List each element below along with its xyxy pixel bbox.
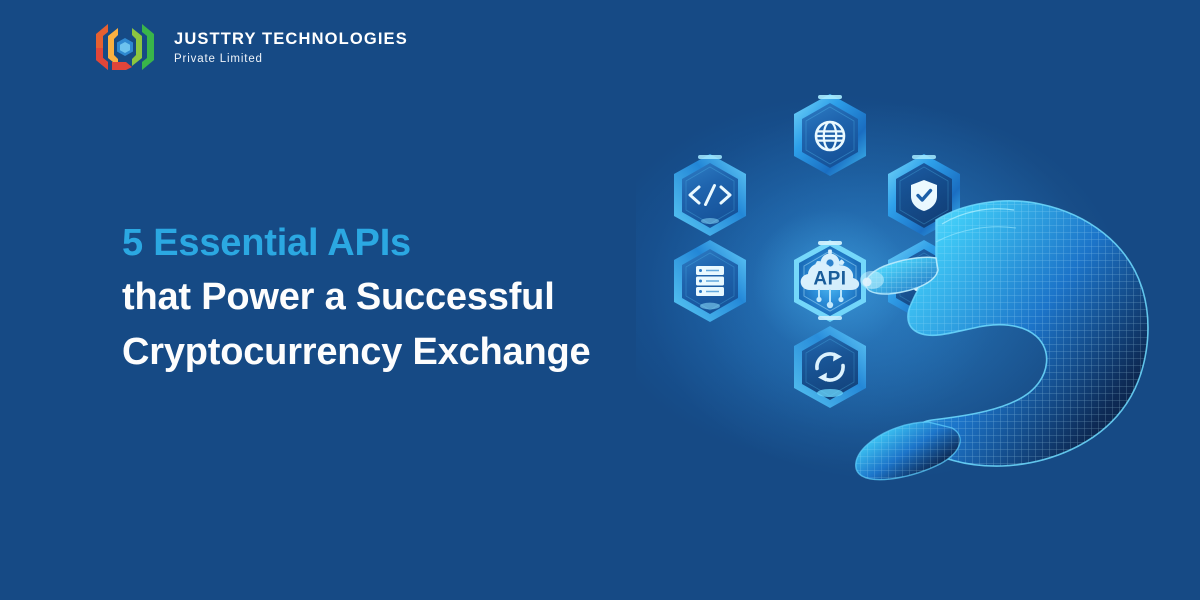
- page-title: 5 Essential APIs that Power a Successful…: [122, 216, 682, 379]
- logo-text: JUSTTRY TECHNOLOGIES Private Limited: [174, 28, 408, 66]
- headline-line-2: that Power a Successful: [122, 270, 682, 324]
- logo-block[interactable]: JUSTTRY TECHNOLOGIES Private Limited: [88, 18, 408, 76]
- server-stack-icon: [696, 266, 724, 296]
- hero-graphic: API: [636, 92, 1152, 502]
- company-suffix: Private Limited: [174, 53, 408, 66]
- justtry-hexagon-chevron-logo-icon: [88, 18, 160, 76]
- company-name: JUSTTRY TECHNOLOGIES: [174, 30, 408, 48]
- headline-line-1: 5 Essential APIs: [122, 216, 682, 270]
- headline-line-3: Cryptocurrency Exchange: [122, 325, 682, 379]
- api-center-label: API: [813, 269, 846, 290]
- banner-root: JUSTTRY TECHNOLOGIES Private Limited 5 E…: [0, 0, 1200, 600]
